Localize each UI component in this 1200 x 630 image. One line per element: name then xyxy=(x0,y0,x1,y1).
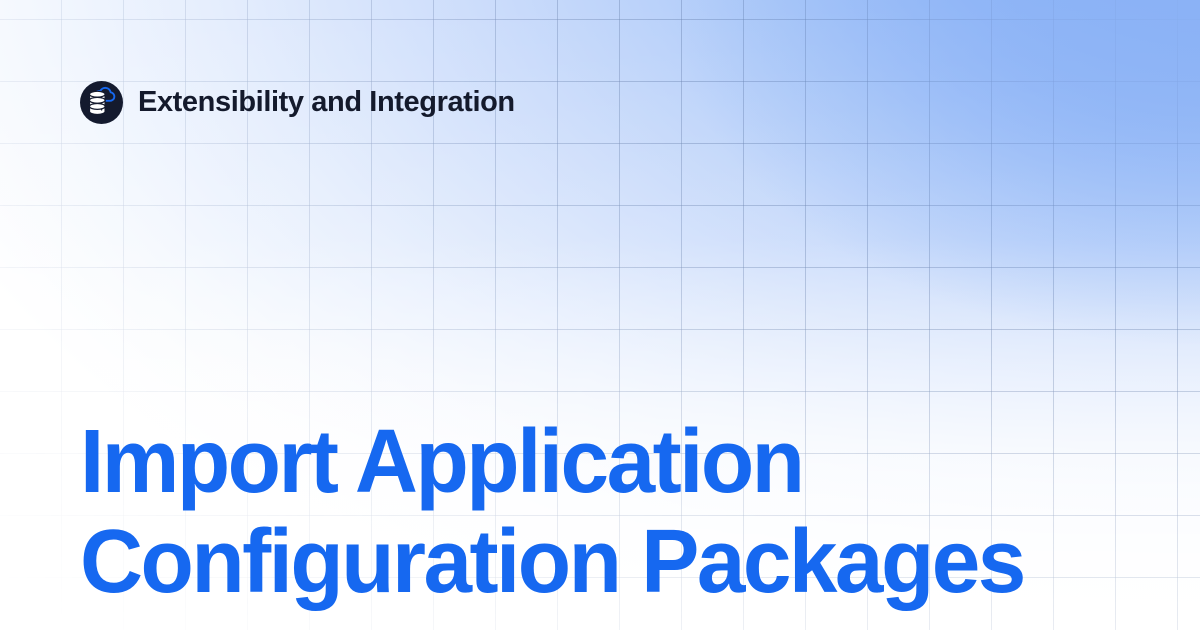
eyebrow: Extensibility and Integration xyxy=(80,81,515,124)
category-label: Extensibility and Integration xyxy=(138,88,515,117)
share-card-canvas: Extensibility and Integration Import App… xyxy=(0,0,1200,630)
database-cloud-icon xyxy=(80,81,123,124)
page-title: Import Application Configuration Package… xyxy=(80,412,1108,612)
